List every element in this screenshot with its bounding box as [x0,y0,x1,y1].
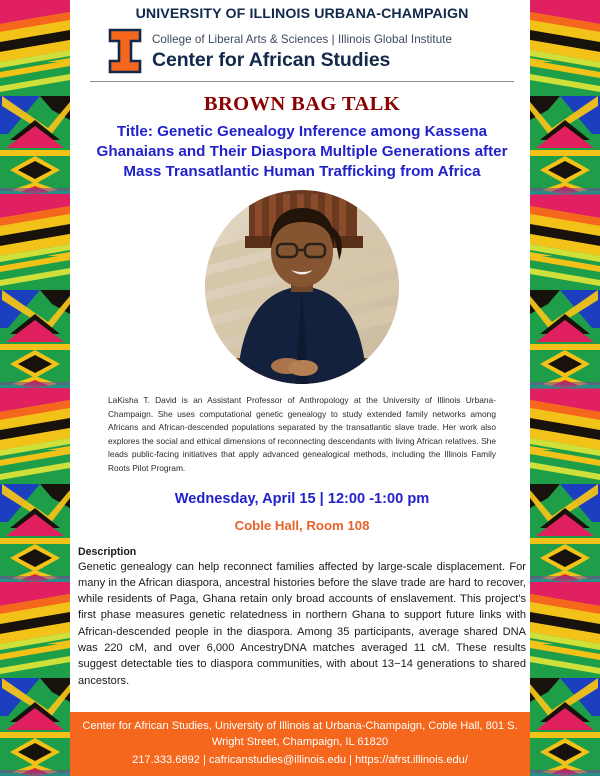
description-heading: Description [78,546,526,558]
speaker-portrait-photo [205,190,399,384]
poster-footer: Center for African Studies, University o… [70,712,530,776]
event-poster: UNIVERSITY OF ILLINOIS URBANA-CHAMPAIGN … [0,0,600,776]
talk-title: Title: Genetic Genealogy Inference among… [70,122,534,182]
poster-content: UNIVERSITY OF ILLINOIS URBANA-CHAMPAIGN … [70,0,534,776]
brand-text: College of Liberal Arts & Sciences | Ill… [152,30,452,72]
header-divider [90,81,514,82]
kente-border-pattern-right-icon [530,0,600,776]
poster-header: UNIVERSITY OF ILLINOIS URBANA-CHAMPAIGN … [70,0,534,82]
center-name: Center for African Studies [152,50,452,71]
description-block: Description Genetic genealogy can help r… [78,546,526,689]
university-name: UNIVERSITY OF ILLINOIS URBANA-CHAMPAIGN [80,6,524,24]
college-name: College of Liberal Arts & Sciences | Ill… [152,33,452,46]
kente-border-pattern-left-icon [0,0,70,776]
speaker-photo-wrap [70,190,534,384]
footer-contact: 217.333.6892 | cafricanstudies@illinois.… [132,753,468,769]
illinois-block-i-icon [108,28,142,74]
brand-row: College of Liberal Arts & Sciences | Ill… [80,28,524,74]
speaker-bio: LaKisha T. David is an Assistant Profess… [108,394,496,476]
talk-type-heading: BROWN BAG TALK [70,93,534,116]
event-date: Wednesday, April 15 | 12:00 -1:00 pm [70,491,534,507]
event-location: Coble Hall, Room 108 [70,518,534,533]
description-body: Genetic genealogy can help reconnect fam… [78,559,526,689]
footer-address: Center for African Studies, University o… [76,719,524,751]
